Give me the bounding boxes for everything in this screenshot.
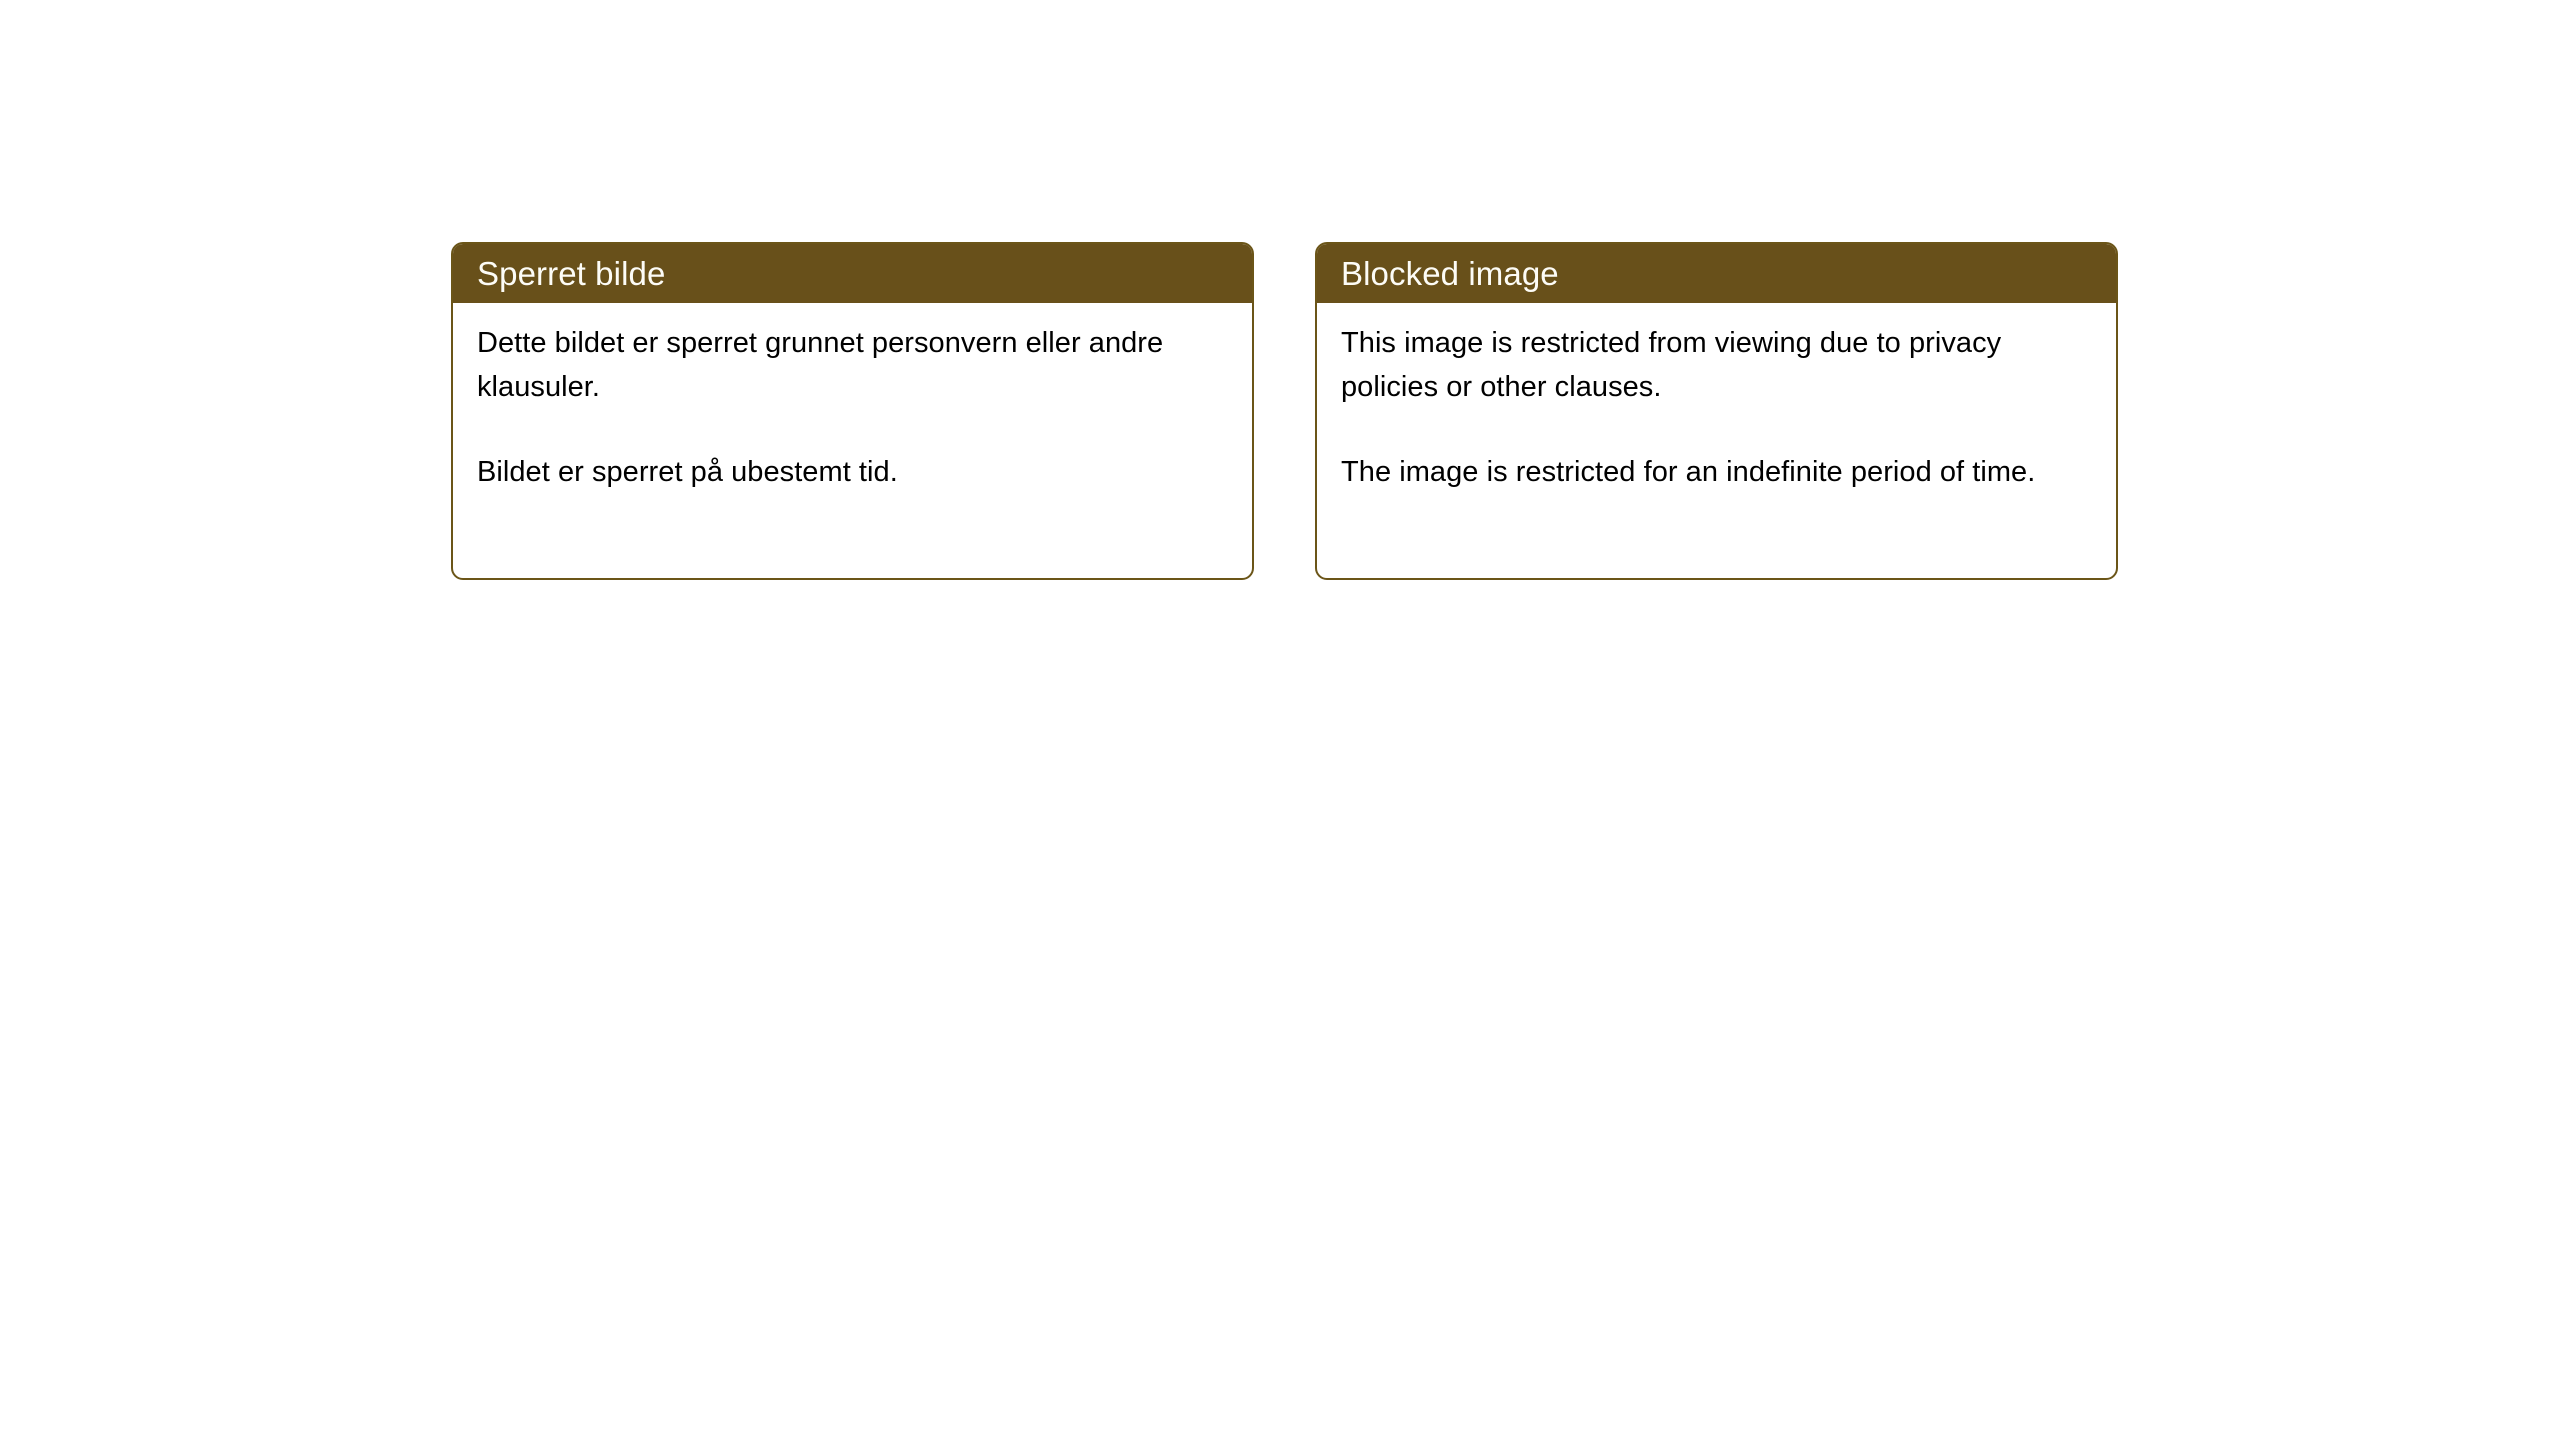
- notice-card-header: Blocked image: [1317, 244, 2116, 303]
- notice-paragraph-primary: This image is restricted from viewing du…: [1341, 321, 2092, 409]
- notice-paragraph-primary: Dette bildet er sperret grunnet personve…: [477, 321, 1228, 409]
- notice-paragraph-secondary: Bildet er sperret på ubestemt tid.: [477, 450, 1228, 494]
- notice-card-title: Sperret bilde: [477, 257, 665, 290]
- notice-card-body: This image is restricted from viewing du…: [1317, 303, 2116, 494]
- blocked-image-notice-card-english: Blocked image This image is restricted f…: [1315, 242, 2118, 580]
- notice-paragraph-secondary: The image is restricted for an indefinit…: [1341, 450, 2092, 494]
- notice-card-title: Blocked image: [1341, 257, 1559, 290]
- notice-card-body: Dette bildet er sperret grunnet personve…: [453, 303, 1252, 494]
- notice-card-header: Sperret bilde: [453, 244, 1252, 303]
- blocked-image-notice-area: Sperret bilde Dette bildet er sperret gr…: [0, 0, 2560, 1440]
- blocked-image-notice-card-norwegian: Sperret bilde Dette bildet er sperret gr…: [451, 242, 1254, 580]
